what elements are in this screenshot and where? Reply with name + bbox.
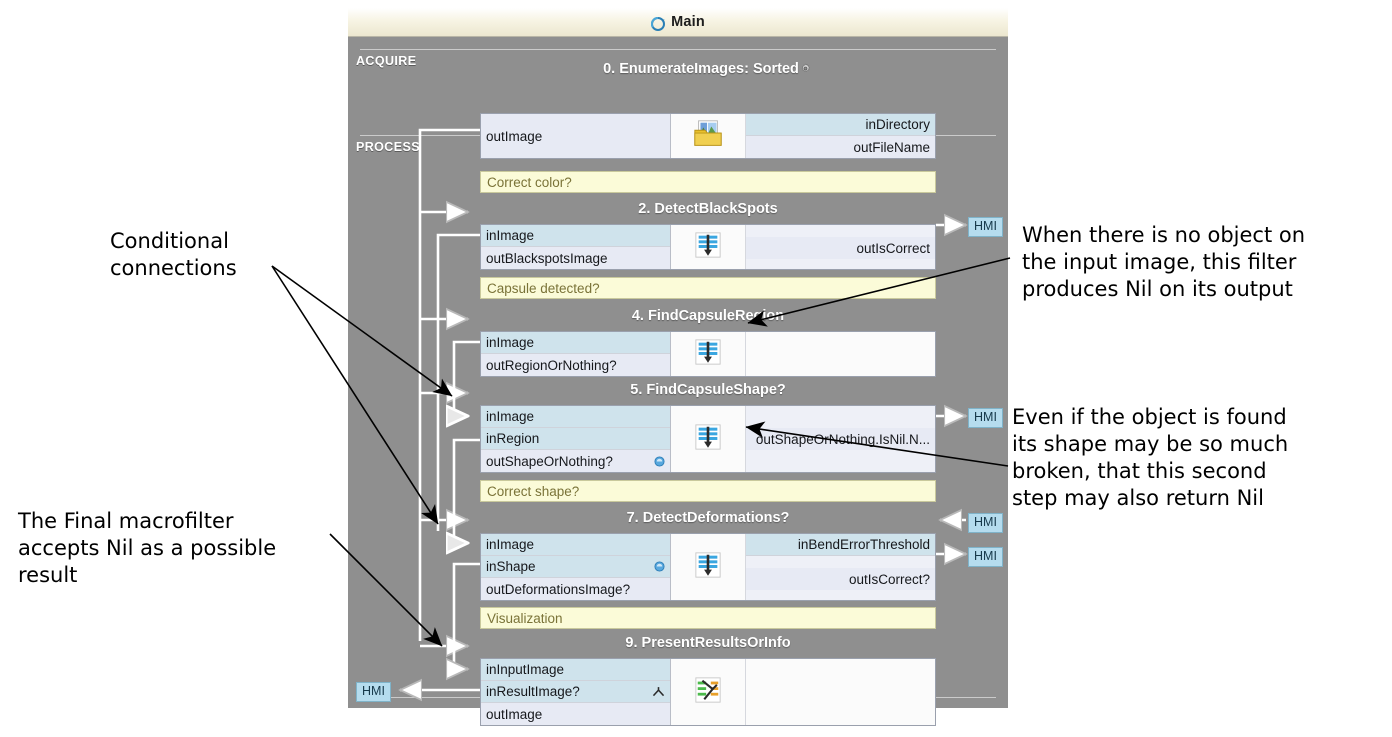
- step-title-0: 0. EnumerateImages: Sorted: [478, 61, 936, 77]
- program-editor-window: Main ACQUIRE PROCESS: [348, 8, 1008, 708]
- filter-right-ports: [746, 659, 935, 725]
- filter-right-ports: inDirectory outFileName: [746, 114, 935, 158]
- filter-box-find-capsule-shape[interactable]: inImage inRegion outShapeOrNothing?: [480, 405, 936, 473]
- nil-circle-icon: [654, 456, 665, 467]
- present-results-icon: [694, 676, 722, 709]
- port-out-outRegionOrNothing[interactable]: outRegionOrNothing?: [481, 354, 670, 376]
- hmi-badge-out-image[interactable]: HMI: [356, 682, 391, 702]
- right-port-spacer: [746, 556, 935, 568]
- filter-box-detect-black-spots[interactable]: inImage outBlackspotsImage: [480, 224, 936, 270]
- port-out-outIsCorrect[interactable]: outIsCorrect: [746, 237, 935, 259]
- comment-visualization[interactable]: Visualization: [480, 607, 936, 629]
- step-title-5: 5. FindCapsuleShape?: [480, 382, 936, 398]
- enumerate-images-icon: [692, 118, 724, 155]
- port-in-inImage[interactable]: inImage: [481, 534, 670, 556]
- right-port-spacer: [746, 225, 935, 237]
- hmi-badge-bend-threshold[interactable]: HMI: [968, 513, 1003, 533]
- port-in-inBendErrorThreshold[interactable]: inBendErrorThreshold: [746, 534, 935, 556]
- port-in-inDirectory[interactable]: inDirectory: [746, 114, 935, 136]
- step-title-2: 2. DetectBlackSpots: [480, 201, 936, 217]
- filter-left-ports: outImage: [481, 114, 671, 158]
- port-out-outFileName[interactable]: outFileName: [746, 136, 935, 158]
- filter-icon-slot: [671, 534, 746, 600]
- filter-icon-slot: [671, 114, 746, 158]
- window-titlebar: Main: [348, 8, 1008, 37]
- step-title-7: 7. DetectDeformations?: [480, 510, 936, 526]
- filter-icon: [694, 231, 722, 264]
- annotation-broken-shape-nil: Even if the object is found its shape ma…: [1012, 404, 1392, 512]
- section-label-process: PROCESS: [356, 140, 420, 154]
- filter-box-present-results[interactable]: inInputImage inResultImage? outImage: [480, 658, 936, 726]
- section-label-acquire: ACQUIRE: [356, 54, 416, 68]
- program-canvas: ACQUIRE PROCESS: [348, 37, 1008, 708]
- filter-icon: [694, 338, 722, 371]
- port-in-inImage[interactable]: inImage: [481, 406, 670, 428]
- filter-icon: [694, 423, 722, 456]
- port-in-inShape[interactable]: inShape: [481, 556, 670, 578]
- window-title: Main: [671, 14, 705, 30]
- filter-icon-slot: [671, 332, 746, 376]
- port-out-outImage[interactable]: outImage: [481, 703, 670, 725]
- filter-icon-slot: [671, 406, 746, 472]
- filter-box-find-capsule-region[interactable]: inImage outRegionOrNothing?: [480, 331, 936, 377]
- filter-right-ports: inBendErrorThreshold outIsCorrect?: [746, 534, 935, 600]
- port-in-inInputImage[interactable]: inInputImage: [481, 659, 670, 681]
- annotation-no-object-nil: When there is no object on the input ima…: [1022, 222, 1392, 303]
- port-in-inResultImage[interactable]: inResultImage?: [481, 681, 670, 703]
- nil-circle-icon: [654, 561, 665, 572]
- gear-icon[interactable]: [800, 62, 811, 73]
- hmi-badge-deform-outIsCorrect[interactable]: HMI: [968, 547, 1003, 567]
- program-icon: [651, 17, 665, 31]
- step-title-4: 4. FindCapsuleRegion: [480, 308, 936, 324]
- port-out-outImage[interactable]: outImage: [481, 114, 670, 158]
- filter-left-ports: inImage inRegion outShapeOrNothing?: [481, 406, 671, 472]
- filter-left-ports: inImage inShape outDeformationsImage?: [481, 534, 671, 600]
- port-out-outShapeOrNothing-isnil[interactable]: outShapeOrNothing.IsNil.N...: [746, 428, 935, 450]
- comment-correct-color[interactable]: Correct color?: [480, 171, 936, 193]
- port-out-outIsCorrect[interactable]: outIsCorrect?: [746, 568, 935, 590]
- merge-icon: [652, 686, 665, 697]
- filter-icon-slot: [671, 225, 746, 269]
- filter-icon-slot: [671, 659, 746, 725]
- port-in-inRegion[interactable]: inRegion: [481, 428, 670, 450]
- port-out-outBlackspotsImage[interactable]: outBlackspotsImage: [481, 247, 670, 269]
- step-title-9: 9. PresentResultsOrInfo: [480, 635, 936, 651]
- port-in-inImage[interactable]: inImage: [481, 225, 670, 247]
- annotation-final-macrofilter: The Final macrofilter accepts Nil as a p…: [18, 508, 348, 589]
- comment-correct-shape[interactable]: Correct shape?: [480, 480, 936, 502]
- filter-box-detect-deformations[interactable]: inImage inShape outDeformationsImage?: [480, 533, 936, 601]
- annotation-conditional-connections: Conditional connections: [110, 228, 340, 282]
- filter-box-enumerate-images[interactable]: outImage: [480, 113, 936, 159]
- filter-left-ports: inImage outBlackspotsImage: [481, 225, 671, 269]
- port-out-outShapeOrNothing[interactable]: outShapeOrNothing?: [481, 450, 670, 472]
- comment-capsule-detected[interactable]: Capsule detected?: [480, 277, 936, 299]
- right-port-spacer: [746, 406, 935, 428]
- filter-right-ports: outShapeOrNothing.IsNil.N...: [746, 406, 935, 472]
- filter-right-ports: [746, 332, 935, 376]
- section-divider-acquire: [360, 49, 996, 50]
- filter-left-ports: inInputImage inResultImage? outImage: [481, 659, 671, 725]
- hmi-badge-isnil[interactable]: HMI: [968, 408, 1003, 428]
- filter-left-ports: inImage outRegionOrNothing?: [481, 332, 671, 376]
- filter-right-ports: outIsCorrect: [746, 225, 935, 269]
- hmi-badge-outIsCorrect[interactable]: HMI: [968, 217, 1003, 237]
- port-in-inImage[interactable]: inImage: [481, 332, 670, 354]
- port-out-outDeformationsImage[interactable]: outDeformationsImage?: [481, 578, 670, 600]
- filter-icon: [694, 551, 722, 584]
